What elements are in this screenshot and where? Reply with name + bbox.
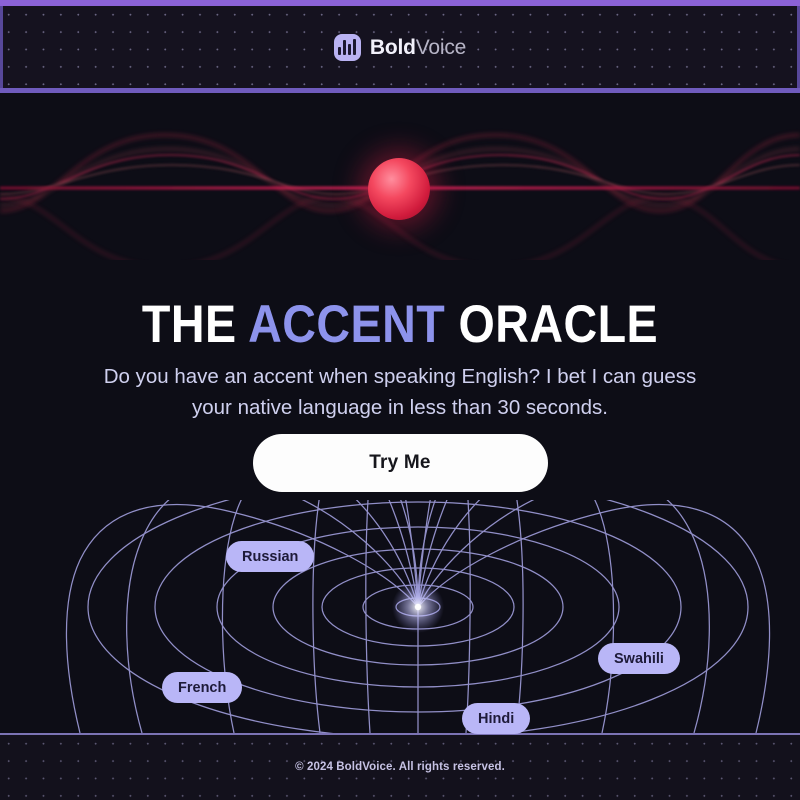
copyright-text: © 2024 BoldVoice. All rights reserved. bbox=[0, 761, 800, 773]
page-title-part1: THE bbox=[142, 295, 248, 354]
accent-oracle-landing-page: BoldVoice bbox=[0, 0, 800, 800]
cta-container: Try Me bbox=[0, 434, 800, 492]
soundwave-logo-icon bbox=[334, 34, 361, 61]
page-title-part2: ORACLE bbox=[445, 295, 658, 354]
footer-band: © 2024 BoldVoice. All rights reserved. bbox=[0, 733, 800, 800]
brand-name-bold: Bold bbox=[370, 36, 416, 59]
brand-name-light: Voice bbox=[416, 36, 466, 59]
brand-name: BoldVoice bbox=[370, 37, 466, 58]
try-me-button[interactable]: Try Me bbox=[253, 434, 548, 492]
brand-logo[interactable]: BoldVoice bbox=[0, 34, 800, 61]
language-pill-russian[interactable]: Russian bbox=[226, 541, 314, 572]
page-subtitle: Do you have an accent when speaking Engl… bbox=[96, 361, 704, 423]
language-pill-hindi[interactable]: Hindi bbox=[462, 703, 530, 734]
wireframe-globe: Russian French Swahili Hindi bbox=[0, 500, 800, 734]
header-band: BoldVoice bbox=[0, 0, 800, 93]
glowing-red-orb-icon bbox=[368, 158, 430, 220]
page-title-accent: ACCENT bbox=[248, 295, 445, 354]
page-title: THE ACCENT ORACLE bbox=[48, 298, 752, 351]
hero-waveform bbox=[0, 93, 800, 260]
language-pill-french[interactable]: French bbox=[162, 672, 242, 703]
language-pill-swahili[interactable]: Swahili bbox=[598, 643, 680, 674]
wireframe-globe-icon bbox=[0, 500, 800, 734]
